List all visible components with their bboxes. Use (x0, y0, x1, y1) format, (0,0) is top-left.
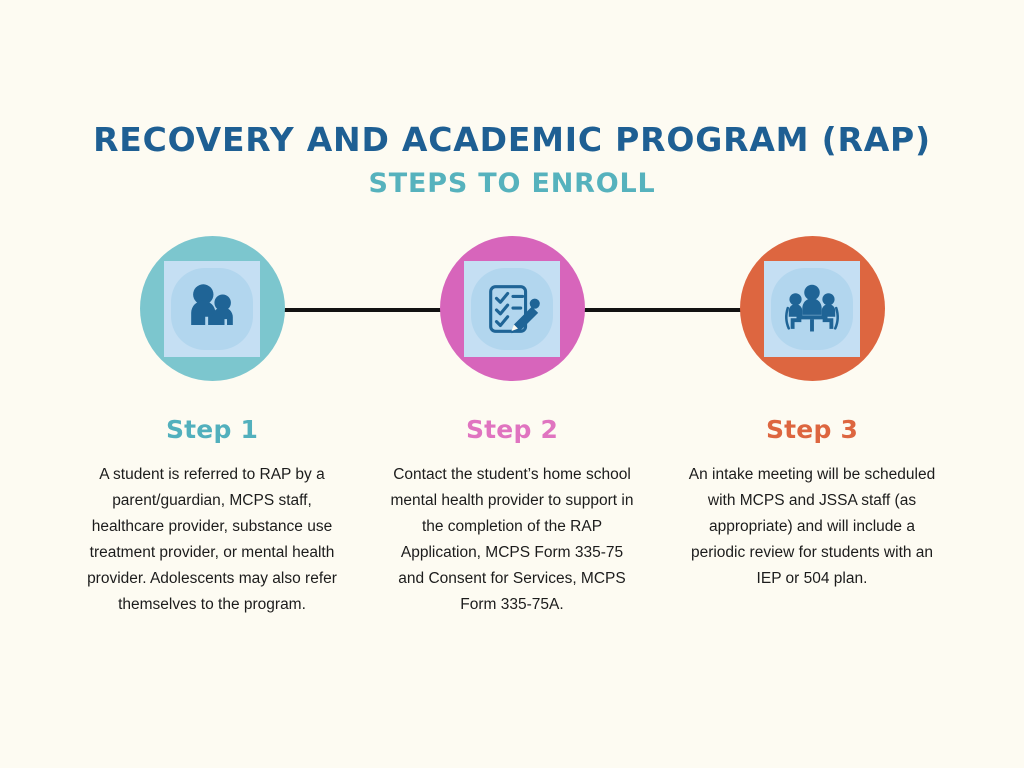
step-1-icon-tile (164, 261, 260, 357)
step-2-icon-tile (464, 261, 560, 357)
step-1: Step 1 A student is referred to RAP by a… (62, 236, 362, 618)
step-2-label: Step 2 (466, 415, 558, 444)
infographic-canvas: RECOVERY AND ACADEMIC PROGRAM (RAP) STEP… (0, 0, 1024, 768)
step-3-label: Step 3 (766, 415, 858, 444)
step-1-badge (140, 236, 285, 381)
step-1-label: Step 1 (166, 415, 258, 444)
meeting-table-people-icon (781, 278, 843, 340)
step-3-icon-tile (764, 261, 860, 357)
title-block: RECOVERY AND ACADEMIC PROGRAM (RAP) STEP… (0, 118, 1024, 203)
step-3-description: An intake meeting will be scheduled with… (686, 462, 938, 592)
page-title: RECOVERY AND ACADEMIC PROGRAM (RAP) (0, 118, 1024, 162)
step-3-badge (740, 236, 885, 381)
step-2-badge (440, 236, 585, 381)
step-3: Step 3 An intake meeting will be schedul… (662, 236, 962, 618)
step-2-description: Contact the student’s home school mental… (386, 462, 638, 618)
step-1-description: A student is referred to RAP by a parent… (86, 462, 338, 618)
checklist-with-pencil-icon (481, 278, 543, 340)
step-2: Step 2 Contact the student’s home school… (362, 236, 662, 618)
page-subtitle: STEPS TO ENROLL (0, 165, 1024, 203)
steps-row: Step 1 A student is referred to RAP by a… (0, 236, 1024, 618)
parent-and-child-icon (181, 278, 243, 340)
